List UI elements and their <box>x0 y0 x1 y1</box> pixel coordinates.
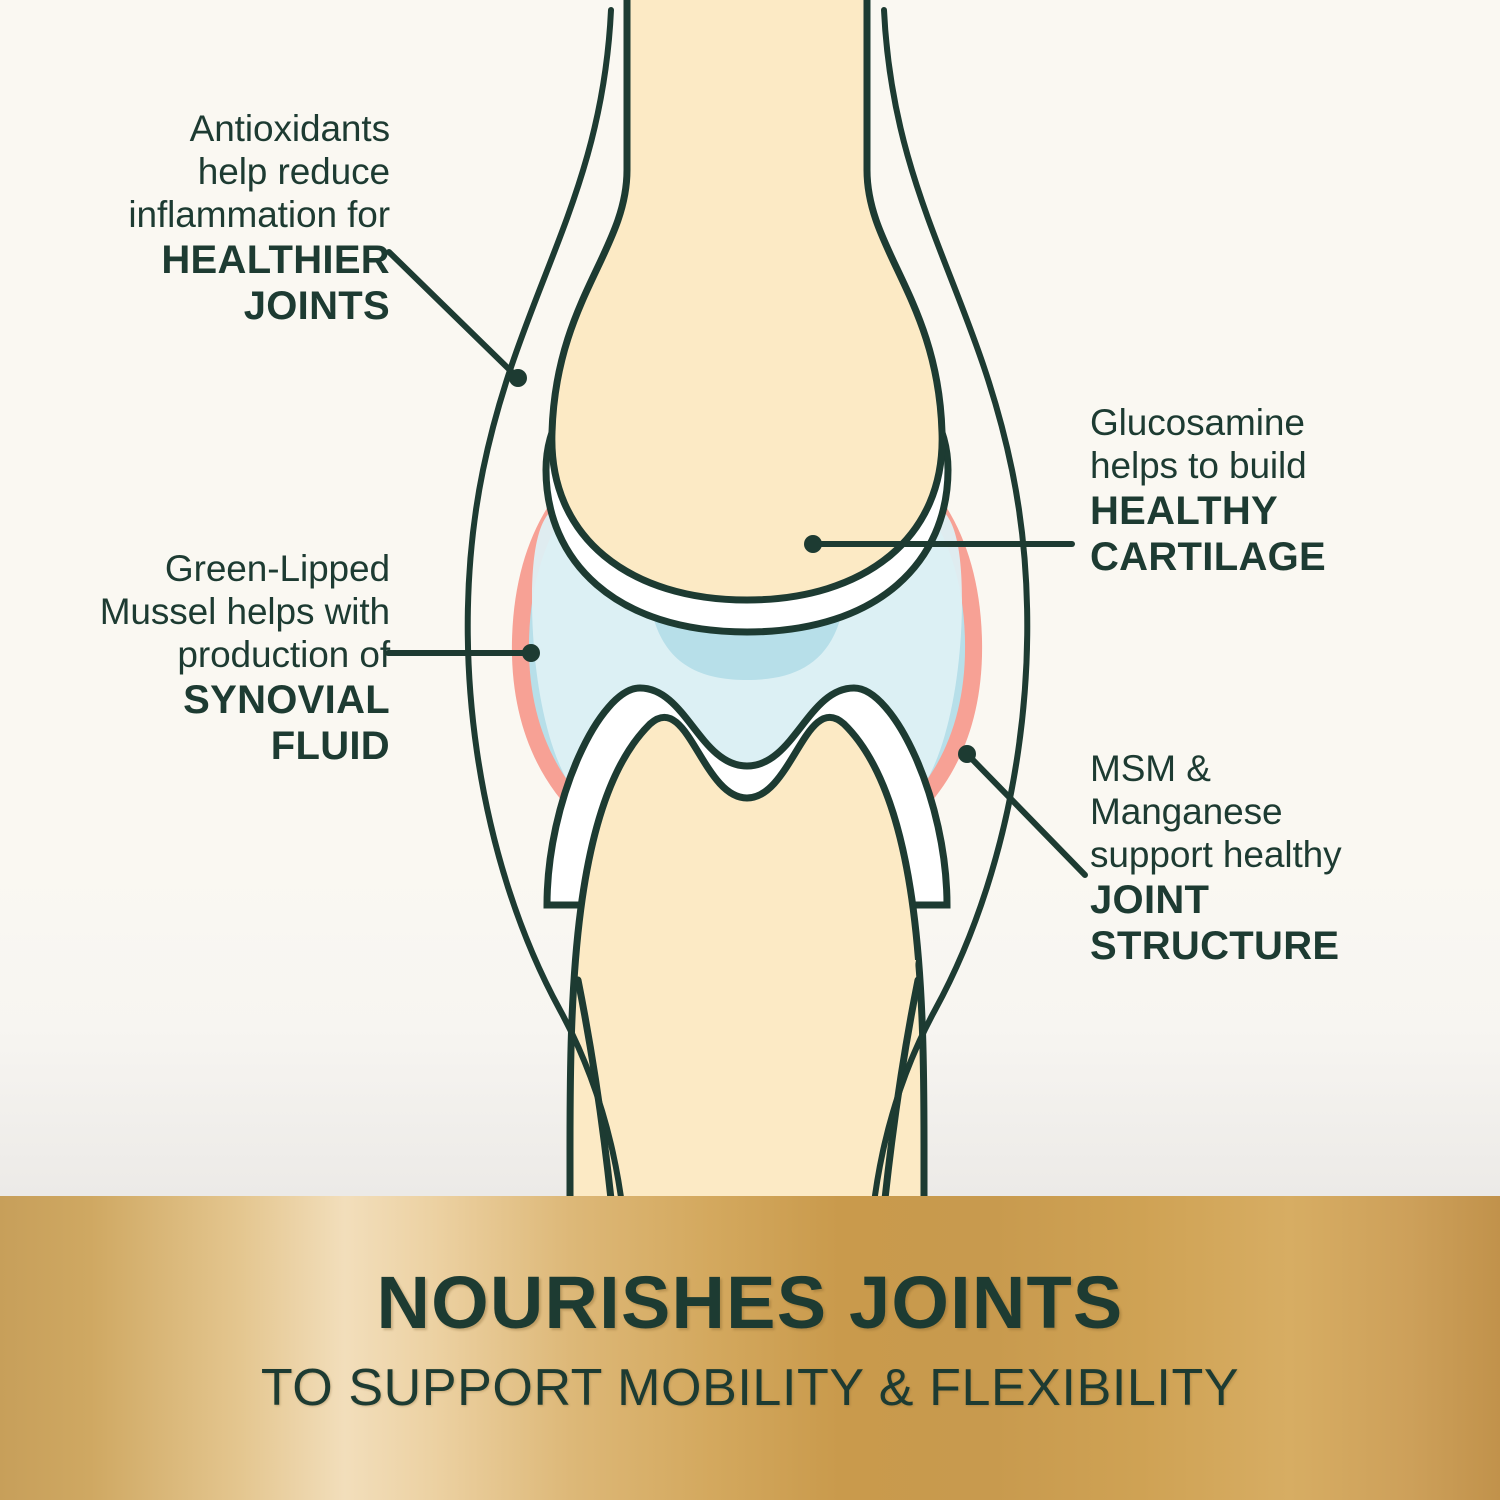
banner-text-group: NOURISHES JOINTS TO SUPPORT MOBILITY & F… <box>0 1266 1500 1414</box>
gold-banner: NOURISHES JOINTS TO SUPPORT MOBILITY & F… <box>0 1196 1500 1500</box>
annotation-glucosamine-line-2: helps to build <box>1090 445 1470 488</box>
annotation-antioxidants: Antioxidants help reduce inflammation fo… <box>20 108 390 330</box>
banner-title: NOURISHES JOINTS <box>0 1266 1500 1340</box>
leader-dot-mussel <box>522 644 540 662</box>
annotation-antioxidants-emph-1: HEALTHIER <box>20 237 390 283</box>
femur-bone <box>552 0 942 600</box>
annotation-green-lipped-mussel: Green-Lipped Mussel helps with productio… <box>10 548 390 770</box>
annotation-antioxidants-line-3: inflammation for <box>20 194 390 237</box>
annotation-msm-line-2: Manganese <box>1090 791 1480 834</box>
annotation-mussel-line-3: production of <box>10 634 390 677</box>
annotation-mussel-line-1: Green-Lipped <box>10 548 390 591</box>
annotation-mussel-emph-2: FLUID <box>10 723 390 769</box>
annotation-glucosamine-line-1: Glucosamine <box>1090 402 1470 445</box>
annotation-msm-emph-2: STRUCTURE <box>1090 923 1480 969</box>
annotation-antioxidants-emph-2: JOINTS <box>20 283 390 329</box>
annotation-msm-line-3: support healthy <box>1090 834 1480 877</box>
leader-line-antioxidants <box>389 252 516 376</box>
leader-dot-glucosamine <box>804 535 822 553</box>
annotation-glucosamine: Glucosamine helps to build HEALTHY CARTI… <box>1090 402 1470 581</box>
annotation-antioxidants-line-1: Antioxidants <box>20 108 390 151</box>
joint-health-infographic: Antioxidants help reduce inflammation fo… <box>0 0 1500 1500</box>
annotation-mussel-line-2: Mussel helps with <box>10 591 390 634</box>
annotation-msm-manganese: MSM & Manganese support healthy JOINT ST… <box>1090 748 1480 970</box>
banner-subtitle: TO SUPPORT MOBILITY & FLEXIBILITY <box>0 1362 1500 1414</box>
annotation-mussel-emph-1: SYNOVIAL <box>10 677 390 723</box>
annotation-glucosamine-emph-1: HEALTHY <box>1090 488 1470 534</box>
annotation-msm-line-1: MSM & <box>1090 748 1480 791</box>
leader-dot-msm <box>958 745 976 763</box>
annotation-glucosamine-emph-2: CARTILAGE <box>1090 534 1470 580</box>
leader-line-msm <box>970 757 1085 875</box>
annotation-antioxidants-line-2: help reduce <box>20 151 390 194</box>
leader-dot-antioxidants <box>509 369 527 387</box>
annotation-msm-emph-1: JOINT <box>1090 877 1480 923</box>
